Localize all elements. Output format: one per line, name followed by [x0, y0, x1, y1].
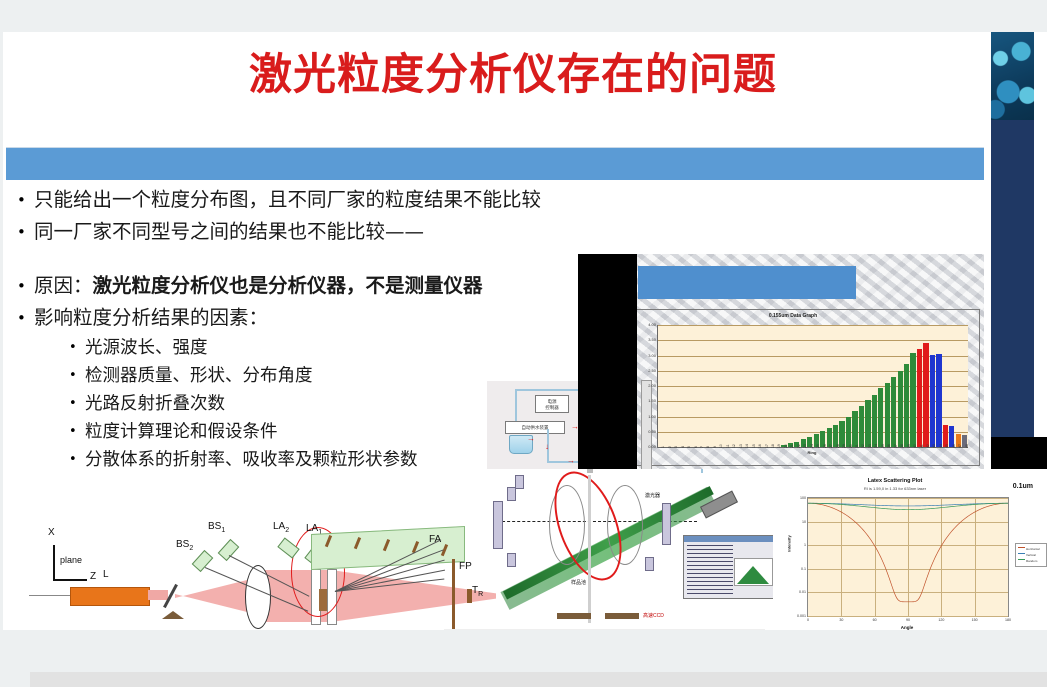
scatter-legend-item: Random: [1018, 559, 1037, 563]
chart-x-tick: 35: [881, 444, 885, 448]
chart-x-tick: 12: [732, 444, 736, 448]
chart-x-tick: 48: [965, 444, 969, 448]
sub-bullet-dot-icon: •: [69, 390, 85, 418]
scatter-y-tick: 0.01: [799, 590, 806, 594]
slide-title: 激光粒度分析仪存在的问题: [63, 52, 963, 99]
scatter-legend-label: Random: [1026, 559, 1037, 563]
scattering-plot-panel: Latex Scattering Plot RI is 1.59,0 in 1.…: [775, 475, 1047, 630]
bullet-item-1: •只能给出一个粒度分布图，且不同厂家的粒度结果不能比较: [17, 184, 657, 216]
scatter-y-tick: 0.001: [797, 614, 806, 618]
chart-x-tick: 1: [661, 446, 665, 448]
scatter-subtitle: RI is 1.59,0 in 1.33 for 633nm laser: [775, 486, 1015, 491]
chart-frame: 0.155um Data Graph Signal 0.000.501.001.…: [606, 309, 980, 466]
axis-z-label: Z: [90, 571, 96, 582]
chart-y-tick: 4.00: [648, 322, 656, 327]
chart-x-tick: 9: [713, 446, 717, 448]
fp-label: FP: [459, 561, 472, 572]
chart-x-tick: 38: [900, 444, 904, 448]
chart-x-tick: 17: [765, 444, 769, 448]
scatter-title: Latex Scattering Plot: [775, 478, 1015, 484]
chart-x-tick: 13: [739, 444, 743, 448]
chart-bar: [898, 371, 903, 447]
scatter-x-tick: 120: [938, 618, 944, 622]
chart-x-tick: 33: [868, 444, 872, 448]
focal-plane-bar: [452, 559, 455, 630]
axis-x-label: X: [48, 527, 55, 538]
scatter-x-tick: 180: [1005, 618, 1011, 622]
bullet-text: 只能给出一个粒度分布图，且不同厂家的粒度结果不能比较: [34, 188, 541, 211]
chart-x-tick: 21: [790, 444, 794, 448]
axis-x-line: [53, 545, 55, 581]
chart-y-tick: 3.00: [648, 353, 656, 358]
chart-x-tick: 4: [681, 446, 685, 448]
laser-label: 激光器: [645, 492, 660, 499]
sub-bullet-text: 分散体系的折射率、吸收率及颗粒形状参数: [85, 450, 418, 470]
presentation-viewport: 激光粒度分析仪存在的问题 chnology •只能给出一个粒度分布图，且不同厂家…: [0, 0, 1047, 687]
ccd-bar: [605, 613, 639, 619]
chart-x-tick: 42: [926, 444, 930, 448]
chart-x-tick: 24: [810, 444, 814, 448]
sub-bullet-dot-icon: •: [69, 334, 85, 362]
chart-bar: [865, 400, 870, 447]
sub-bullet-item-1: •光源波长、强度: [17, 334, 657, 362]
bullet-text: 同一厂家不同型号之间的结果也不能比较——: [34, 220, 424, 243]
flow-arrow-icon: →: [527, 435, 535, 443]
chart-x-tick: 18: [771, 444, 775, 448]
sub-bullet-text: 检测器质量、形状、分布角度: [85, 366, 313, 386]
chart-x-tick: 32: [861, 444, 865, 448]
chart-x-tick: 28: [836, 444, 840, 448]
chart-y-tick: 0.00: [648, 444, 656, 449]
chart-x-tick: 43: [932, 444, 936, 448]
chart-x-tick: 26: [823, 444, 827, 448]
ccd-label: 高速CCD: [643, 612, 664, 619]
detector: [507, 487, 516, 501]
mirror-mount: [162, 611, 184, 619]
mirror-label: MR: [162, 629, 175, 630]
chart-bar: [852, 411, 857, 447]
scatter-y-axis-label: Intensity: [787, 535, 792, 551]
monitor-titlebar: [684, 536, 773, 542]
chart-x-tick: 47: [958, 444, 962, 448]
chart-plot-area: 0.000.501.001.502.002.503.003.504.00: [657, 325, 968, 448]
chart-x-axis-label: Ring: [657, 450, 967, 455]
ccd-bar: [557, 613, 591, 619]
chart-x-tick: 5: [687, 446, 691, 448]
scatter-legend-item: Vertical: [1018, 553, 1036, 557]
tr-label: TR: [472, 585, 483, 598]
chart-x-tick: 45: [945, 444, 949, 448]
bullet-prefix: 原因：: [34, 274, 93, 297]
scatter-plot-area: 1001010.10.010.0010306090120150180: [807, 497, 1009, 617]
sub-bullet-text: 光路反射折叠次数: [85, 394, 225, 414]
bottom-strip: [30, 672, 1047, 687]
scatter-curves: [808, 498, 1008, 616]
chart-y-tick: 1.50: [648, 398, 656, 403]
chart-x-tick: 40: [913, 444, 917, 448]
chart-x-tick: 7: [700, 446, 704, 448]
chart-x-tick: 15: [752, 444, 756, 448]
la2-label: LA2: [273, 521, 289, 534]
fiber-array-panel: [311, 526, 465, 570]
bar-chart-photo-panel: 0.155um Data Graph Signal 0.000.501.001.…: [578, 254, 984, 469]
bullet-text: 影响粒度分析结果的因素：: [34, 306, 268, 329]
scatter-legend-swatch: [1018, 559, 1025, 560]
chart-bar: [910, 353, 915, 447]
scatter-legend-label: Horizontal: [1026, 547, 1040, 551]
scatter-x-tick: 150: [972, 618, 978, 622]
chart-x-tick: 20: [784, 444, 788, 448]
chart-x-tick: 37: [894, 444, 898, 448]
scatter-legend: HorizontalVerticalRandom: [1015, 543, 1047, 567]
chart-title: 0.155um Data Graph: [607, 313, 979, 319]
chart-bar: [885, 383, 890, 447]
scatter-legend-item: Horizontal: [1018, 547, 1040, 551]
chart-y-tick: 0.50: [648, 429, 656, 434]
optics-section: 激光器 样品池 高速CCD: [487, 473, 773, 625]
chart-x-tick: 31: [855, 444, 859, 448]
monitor-chart: [734, 558, 773, 586]
chart-bar: [872, 395, 877, 447]
scatter-y-tick: 10: [802, 520, 806, 524]
chart-x-tick: 19: [777, 444, 781, 448]
sidebar-brand-strip: chnology: [991, 32, 1034, 437]
chart-y-tick: 3.50: [648, 337, 656, 342]
flow-arrow-icon: →: [567, 457, 575, 465]
chart-bar: [904, 364, 909, 447]
sub-bullet-dot-icon: •: [69, 362, 85, 390]
chart-bar: [878, 388, 883, 447]
chart-x-tick: 36: [887, 444, 891, 448]
chart-y-tick: 2.50: [648, 368, 656, 373]
sub-bullet-text: 光源波长、强度: [85, 338, 208, 358]
scatter-x-tick: 0: [807, 618, 809, 622]
sub-bullet-dot-icon: •: [69, 418, 85, 446]
scatter-x-tick: 30: [839, 618, 843, 622]
chart-x-tick: 3: [674, 446, 678, 448]
bullet-dot-icon: •: [17, 303, 34, 334]
optical-schematic-diagram: X plane Z L MR RL: [23, 517, 483, 630]
chart-bar: [917, 349, 922, 447]
chart-x-tick: 16: [758, 444, 762, 448]
bullet-dot-icon: •: [17, 217, 34, 248]
bullet-spacer: [17, 248, 657, 270]
beam-pinch: [148, 590, 168, 600]
chart-y-tick: 1.00: [648, 414, 656, 419]
chart-x-tick: 39: [907, 444, 911, 448]
chart-y-tick: 2.00: [648, 383, 656, 388]
chart-x-tick: 14: [745, 444, 749, 448]
chart-bar: [930, 355, 935, 447]
bullet-item-4: •影响粒度分析结果的因素：: [17, 302, 657, 334]
chart-blue-header-box: [638, 266, 856, 299]
scatter-corner-label: 0.1um: [1013, 483, 1033, 490]
chart-x-tick: 23: [803, 444, 807, 448]
detector: [645, 557, 654, 571]
chart-bar: [859, 406, 864, 447]
scatter-legend-swatch: [1018, 553, 1025, 554]
detector-array-right: [662, 503, 671, 545]
chart-x-tick: 22: [797, 444, 801, 448]
laser-label: L: [103, 569, 109, 580]
scatter-x-axis-label: Angle: [807, 625, 1007, 630]
chart-x-tick: 25: [816, 444, 820, 448]
flow-arrow-icon: ↓: [545, 443, 549, 451]
water-supply-box: 自动供水装置: [505, 421, 565, 434]
bullet-item-3: •原因：激光粒度分析仪也是分析仪器，不是测量仪器: [17, 270, 657, 302]
scatter-series-line: [808, 503, 1008, 509]
axis-z-line: [53, 579, 87, 581]
detector-array: [493, 501, 503, 549]
bs2-label: BS2: [176, 539, 193, 552]
chart-x-tick: 44: [939, 444, 943, 448]
black-overlay-block: [578, 254, 637, 469]
axis-plane-label: plane: [60, 555, 82, 565]
chart-x-tick: 41: [920, 444, 924, 448]
chart-x-tick: 46: [952, 444, 956, 448]
controller-box: 电源控制器: [535, 395, 569, 413]
laser-body: [70, 587, 150, 606]
chart-x-tick: 27: [829, 444, 833, 448]
chart-bar: [846, 417, 851, 448]
chart-x-tick: 8: [706, 446, 710, 448]
scatter-legend-label: Vertical: [1026, 553, 1036, 557]
scatter-y-tick: 0.1: [801, 567, 806, 571]
chart-x-tick: 10: [719, 444, 723, 448]
scatter-x-tick: 90: [906, 618, 910, 622]
dashed-input-line: [29, 595, 71, 596]
black-overlay-block-2: [991, 437, 1047, 469]
scatter-gridline: [808, 616, 1008, 617]
scatter-x-tick: 60: [873, 618, 877, 622]
bullet-dot-icon: •: [17, 271, 34, 302]
sample-cell-label: 样品池: [571, 579, 586, 586]
detector: [507, 553, 516, 567]
title-underline-banner: [6, 147, 984, 180]
chart-bar: [923, 343, 928, 447]
sample-cell: [588, 475, 591, 623]
bs1-label: BS1: [208, 521, 225, 534]
monitor-text-lines: [687, 545, 733, 595]
chart-x-tick: 29: [842, 444, 846, 448]
scatter-y-tick: 100: [800, 496, 806, 500]
chart-gridline: [658, 325, 968, 326]
chart-scrollbar[interactable]: [641, 380, 652, 469]
chart-bar: [936, 354, 941, 447]
scatter-y-tick: 1: [804, 543, 806, 547]
chart-x-tick: 2: [668, 446, 672, 448]
bullet-item-2: •同一厂家不同型号之间的结果也不能比较——: [17, 216, 657, 248]
chart-x-tick: 30: [849, 444, 853, 448]
sub-bullet-text: 粒度计算理论和假设条件: [85, 422, 278, 442]
micrograph-image: [991, 32, 1034, 120]
scatter-series-line: [808, 503, 1008, 602]
chart-bar: [891, 377, 896, 447]
sub-bullet-dot-icon: •: [69, 446, 85, 474]
computer-monitor: [683, 535, 773, 599]
slide-canvas: 激光粒度分析仪存在的问题 chnology •只能给出一个粒度分布图，且不同厂家…: [3, 32, 1047, 630]
caption-banner: 传统光路和斜射光路问题是一样的: [444, 629, 765, 630]
bullet-emphasis: 激光粒度分析仪也是分析仪器，不是测量仪器: [93, 274, 483, 297]
detector: [515, 475, 524, 489]
chart-x-tick: 6: [694, 446, 698, 448]
chart-gridline: [658, 340, 968, 341]
bullet-dot-icon: •: [17, 185, 34, 216]
scatter-legend-swatch: [1018, 547, 1025, 548]
chart-x-tick: 11: [726, 444, 730, 448]
chart-x-tick: 34: [874, 444, 878, 448]
